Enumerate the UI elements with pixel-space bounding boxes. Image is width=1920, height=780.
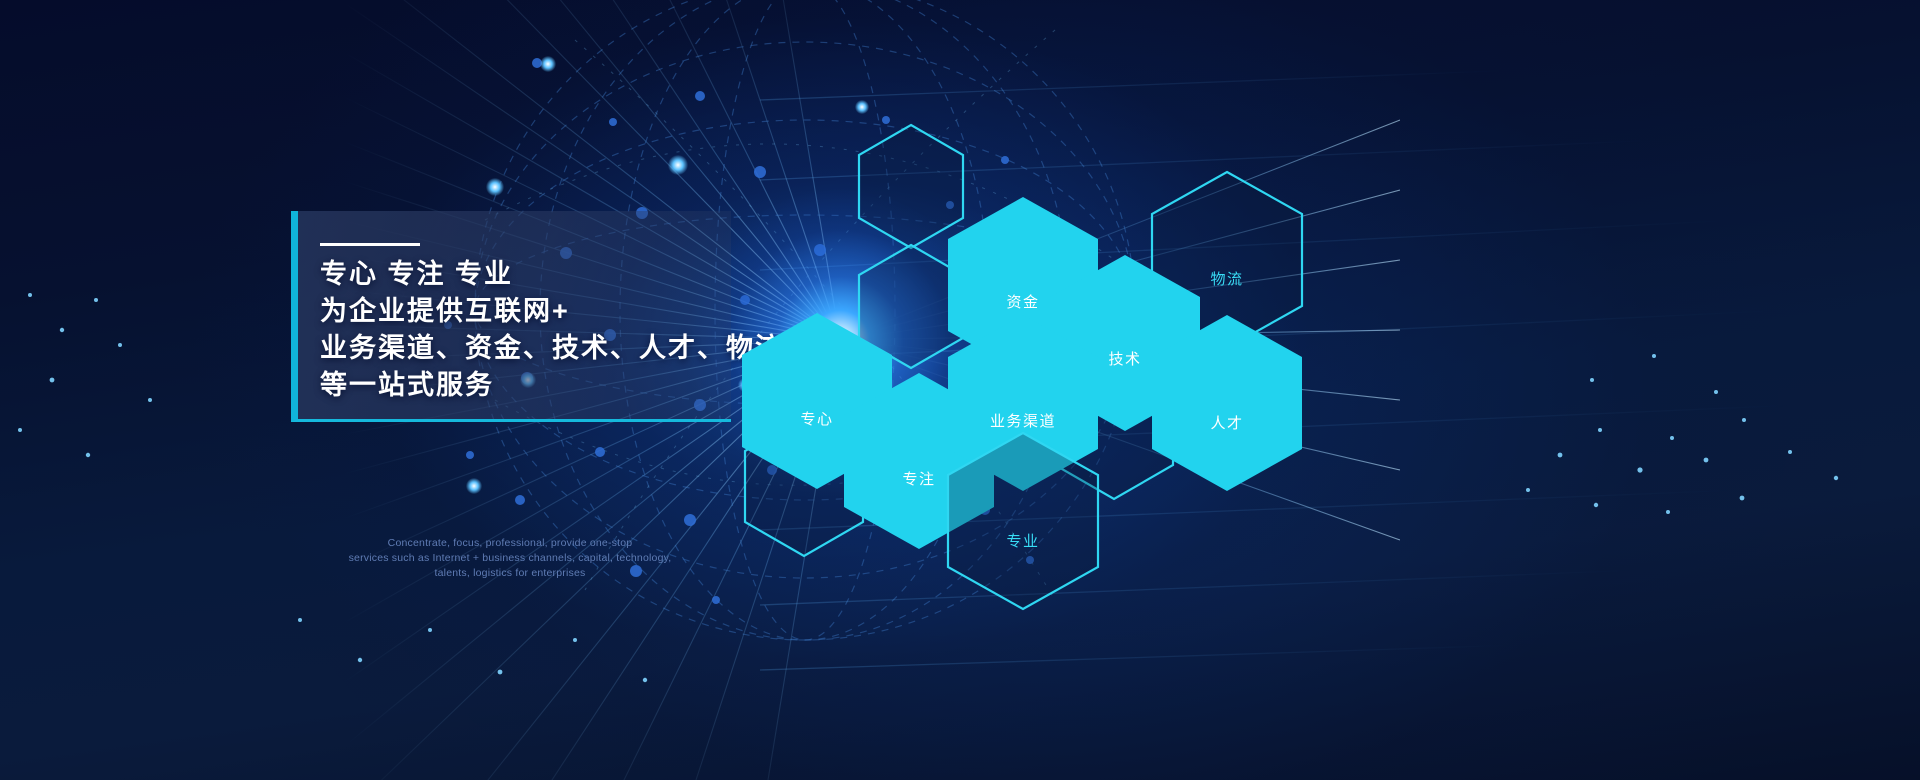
hexagon-cluster: e 物流	[0, 0, 1920, 780]
hex-label-zhuanye: 专业	[944, 530, 1102, 551]
hex-label-yewu: 业务渠道	[944, 410, 1102, 431]
hex-label-rencai: 人才	[1148, 412, 1306, 433]
hex-rencai[interactable]: 人才	[1148, 312, 1306, 494]
banner-stage: 专心 专注 专业 为企业提供互联网+ 业务渠道、资金、技术、人才、物流 等一站式…	[0, 0, 1920, 780]
hex-zhuanye[interactable]: 专业	[944, 430, 1102, 612]
